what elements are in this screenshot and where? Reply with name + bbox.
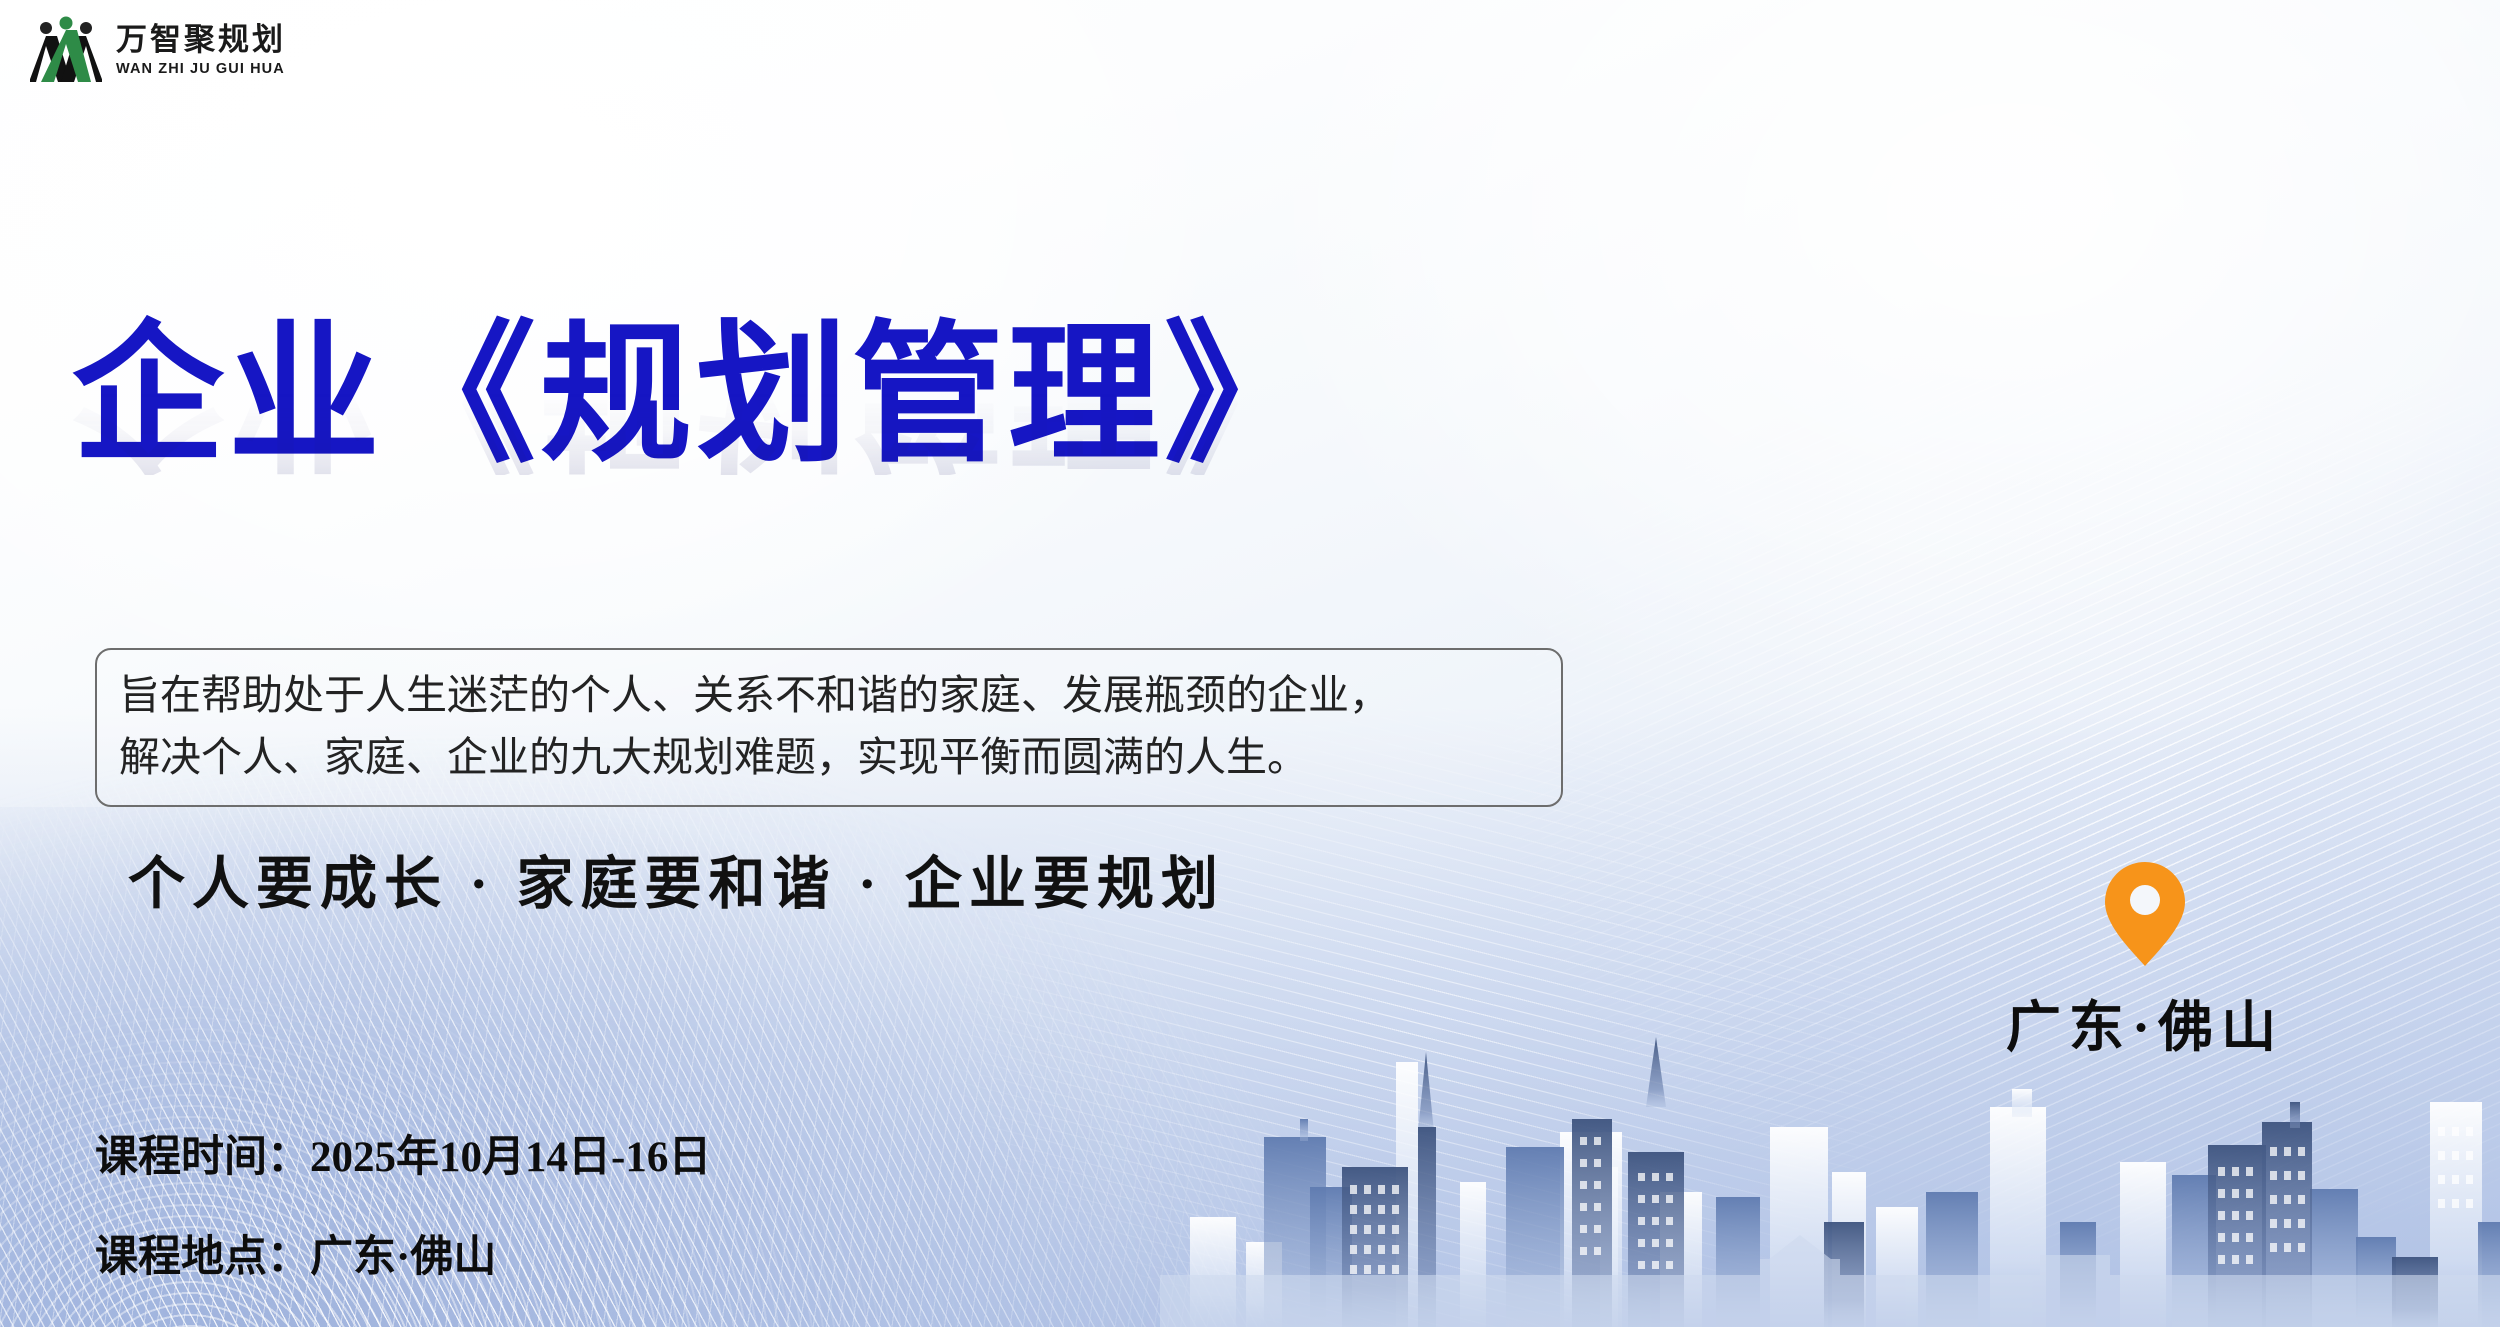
hero-title-block: 企业《规划管理》 企业《规划管理》: [72, 318, 1632, 630]
brand-name-en: WAN ZHI JU GUI HUA: [116, 62, 286, 77]
poster-canvas: 万智聚规划 WAN ZHI JU GUI HUA 企业《规划管理》 企业《规划管…: [0, 0, 2500, 1327]
three-people-mountain-logo-icon: [30, 16, 102, 84]
course-meta: 课程时间：2025年10月14日-16日 课程地点：广东·佛山: [95, 1122, 711, 1322]
slogan-text: 个人要成长 · 家庭要和谐 · 企业要规划: [128, 838, 1225, 920]
course-time: 课程时间：2025年10月14日-16日: [95, 1122, 711, 1184]
brand-name-cn: 万智聚规划: [116, 24, 286, 55]
description-line-1: 旨在帮助处于人生迷茫的个人、关系不和谐的家庭、发展瓶颈的企业，: [119, 664, 1539, 726]
brand-text: 万智聚规划 WAN ZHI JU GUI HUA: [116, 24, 286, 77]
location-badge: 广东·佛山: [1955, 860, 2335, 1062]
brand-logo[interactable]: 万智聚规划 WAN ZHI JU GUI HUA: [30, 16, 286, 84]
page-title-reflection: 企业《规划管理》: [72, 320, 1632, 475]
description-line-2: 解决个人、家庭、企业的九大规划难题，实现平衡而圆满的人生。: [119, 726, 1539, 788]
map-pin-icon: [2103, 860, 2187, 968]
description-box: 旨在帮助处于人生迷茫的个人、关系不和谐的家庭、发展瓶颈的企业， 解决个人、家庭、…: [95, 648, 1563, 807]
location-city: 广东·佛山: [1955, 982, 2335, 1062]
course-place: 课程地点：广东·佛山: [95, 1222, 711, 1284]
